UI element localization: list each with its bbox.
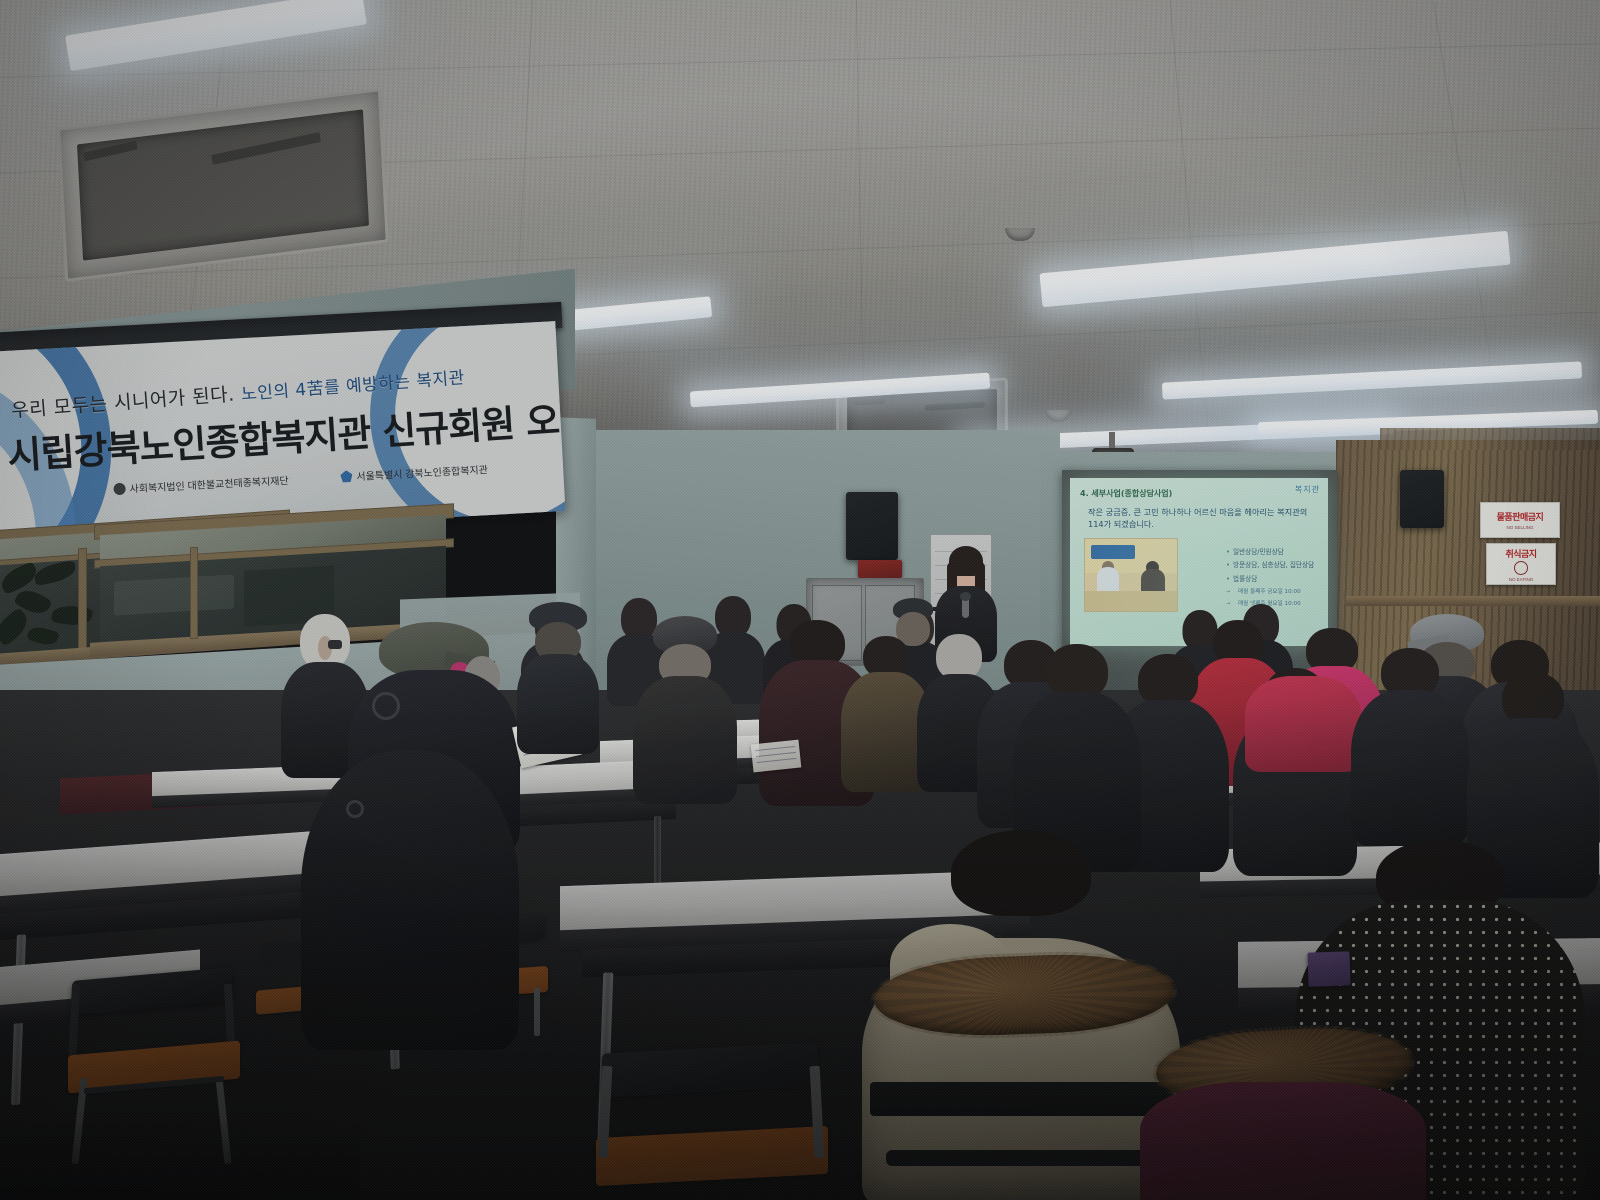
slide-bullet: 일반상담/민원상담 [1226, 547, 1328, 558]
slide-bullet-list: 일반상담/민원상담 방문상담, 심층상담, 집단상담 법률상담 매월 둘째주 금… [1186, 547, 1328, 611]
buddhist-foundation-icon [113, 482, 126, 495]
status-badge-no-selling: 물품판매금지 NO SELLING [1480, 502, 1560, 538]
maroon-puffer-coat [1140, 1082, 1426, 1200]
red-equipment-box [858, 560, 902, 578]
sign-text-en: NO SELLING [1506, 525, 1533, 530]
event-banner: 우리 모두는 시니어가 된다. 노인의 4苦를 예방하는 복지관 시립강북노인종… [0, 321, 565, 542]
purple-notebook [1307, 951, 1350, 986]
no-eating-icon [1514, 561, 1528, 575]
slide-corner-logo: 복지관 [1295, 484, 1320, 495]
wood-wall-panel-upper [1380, 428, 1600, 450]
slide-lead-text: 작은 궁금증, 큰 고민 하나하나 어르신 마음을 헤아리는 복지관의 114가… [1088, 506, 1316, 530]
slide-title: 4. 세부사업(종합상담사업) [1080, 488, 1172, 499]
slide-sub-bullet: 매월 둘째주 금요일 10:00 [1226, 587, 1328, 598]
audience-member-foreground-maroon [1130, 1030, 1430, 1200]
wall-speaker [846, 492, 898, 560]
folding-chair [586, 1048, 836, 1200]
sign-text-en: NO EATING [1509, 577, 1533, 582]
slide-photo [1084, 538, 1178, 612]
audience-member-dark-cap [516, 602, 600, 750]
sign-text-kr: 물품판매금지 [1497, 510, 1544, 523]
audience-member [1350, 648, 1470, 838]
chair-back [870, 1082, 1174, 1116]
slide-bullet: 방문상담, 심층상담, 집단상담 [1226, 560, 1328, 571]
audience-member-front-left [300, 650, 520, 1050]
wall-speaker-right [1400, 470, 1444, 528]
foreground-shadow [0, 1120, 360, 1200]
logo-left: 사회복지법인 대한불교천태종복지재단 [113, 472, 289, 496]
seoul-city-icon [340, 470, 353, 483]
wood-trim [1346, 596, 1600, 606]
status-badge-no-eating: 취식금지 NO EATING [1486, 543, 1556, 585]
sign-text-kr: 취식금지 [1505, 547, 1536, 560]
logo-left-label: 사회복지법인 대한불교천태종복지재단 [129, 472, 289, 496]
jacket-logo [346, 800, 364, 818]
audience-member-beanie [632, 616, 738, 798]
photo-scene: 우리 모두는 시니어가 된다. 노인의 4苦를 예방하는 복지관 시립강북노인종… [0, 0, 1600, 1200]
handout-paper [751, 740, 802, 773]
slide-bullet: 법률상담 [1226, 574, 1328, 585]
audience-member-red-2 [1244, 656, 1362, 766]
